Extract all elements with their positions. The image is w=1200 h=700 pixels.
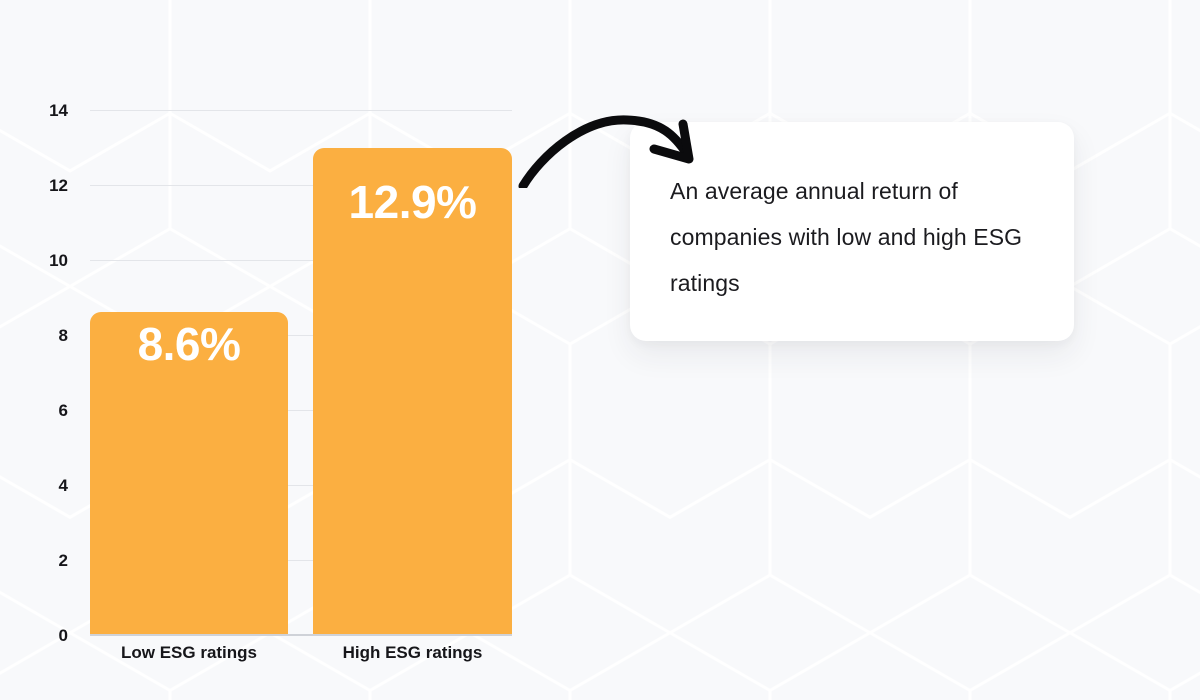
y-axis-tick-14: 14: [28, 102, 68, 119]
y-axis-tick-6: 6: [28, 402, 68, 419]
x-axis-label-low-esg-ratings: Low ESG ratings: [90, 643, 288, 663]
callout-card: An average annual return of companies wi…: [630, 122, 1074, 341]
y-axis-tick-10: 10: [28, 252, 68, 269]
callout-text: An average annual return of companies wi…: [670, 168, 1048, 306]
gridline-14: [90, 110, 512, 111]
bar-value-label-low: 8.6%: [90, 312, 288, 376]
x-axis-label-high-esg-ratings: High ESG ratings: [313, 643, 512, 663]
y-axis-tick-12: 12: [28, 177, 68, 194]
y-axis-tick-4: 4: [28, 477, 68, 494]
bar-chart: 14 12 10 8 6 4 2 0 8.6% 12.9% Low ESG ra…: [0, 0, 1200, 700]
x-axis-baseline: [90, 634, 512, 636]
y-axis-tick-8: 8: [28, 327, 68, 344]
bar-value-label-high: 12.9%: [313, 170, 512, 234]
y-axis-tick-0: 0: [28, 627, 68, 644]
y-axis-tick-2: 2: [28, 552, 68, 569]
